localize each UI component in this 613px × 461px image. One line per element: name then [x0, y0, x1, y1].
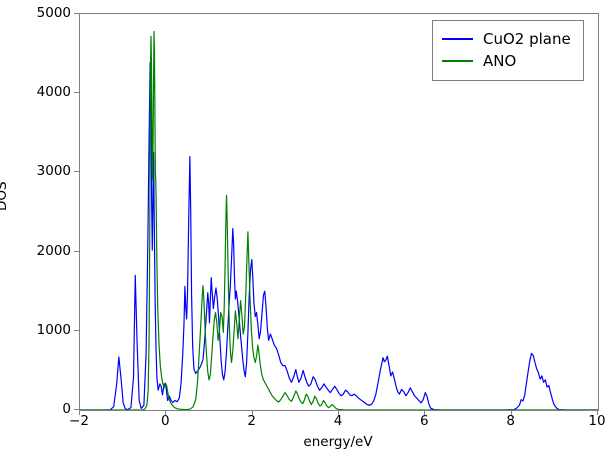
y-tick-label-4000: 4000: [37, 84, 71, 100]
y-tick-label-1000: 1000: [37, 322, 71, 338]
legend-label-ano: ANO: [483, 54, 516, 69]
dos-chart-figure: 010002000300040005000 −20246810 DOS ener…: [0, 0, 613, 461]
x-tick-label-5: 8: [506, 413, 515, 429]
legend-swatch-ano: [442, 60, 473, 62]
x-tick-label-1: 0: [161, 413, 170, 429]
y-tick-label-2000: 2000: [37, 243, 71, 259]
series-line-ano: [80, 31, 598, 410]
series-line-cuo2-plane: [80, 62, 598, 410]
legend-entry-cuo2-plane: CuO2 plane: [442, 28, 574, 50]
y-axis-label: DOS: [0, 181, 10, 211]
y-tick-label-3000: 3000: [37, 163, 71, 179]
legend-label-cuo2-plane: CuO2 plane: [483, 32, 571, 47]
x-tick-label-6: 10: [588, 413, 605, 429]
y-tick-label-5000: 5000: [37, 5, 71, 21]
legend-box: CuO2 plane ANO: [432, 20, 584, 81]
x-axis-label: energy/eV: [303, 434, 372, 450]
legend-swatch-cuo2-plane: [442, 38, 473, 40]
y-axis-tick-labels: 010002000300040005000: [0, 0, 71, 461]
x-tick-label-2: 2: [247, 413, 256, 429]
x-tick-label-0: −2: [69, 413, 89, 429]
legend-entry-ano: ANO: [442, 50, 574, 72]
x-tick-label-3: 4: [334, 413, 343, 429]
x-tick-label-4: 6: [420, 413, 429, 429]
